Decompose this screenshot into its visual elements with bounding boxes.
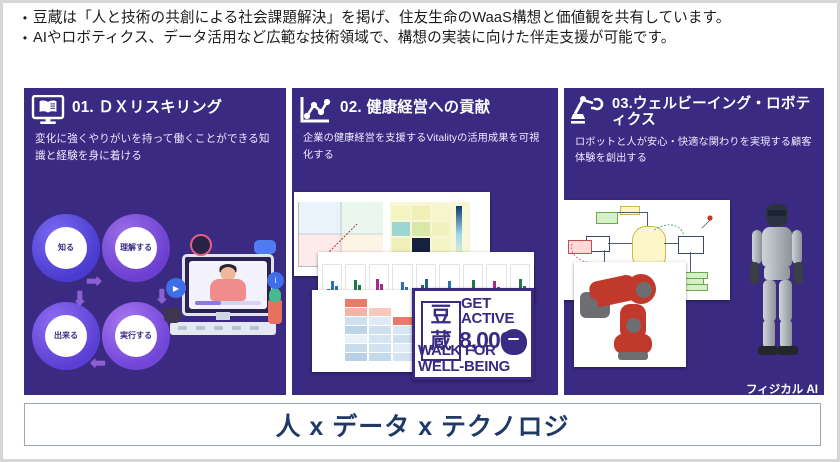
video-camera-icon: ▶ — [166, 278, 186, 298]
cycle-node-execute: 実行する — [115, 315, 157, 357]
health-dashboard-artwork: 豆蔵 GET ACTIVE 8,000 WALK FOR WELL-BEING — [292, 192, 558, 395]
plant-icon — [268, 300, 282, 324]
bullet-marker: • — [17, 9, 33, 27]
card-title: 03.ウェルビーイング・ロボティクス — [612, 95, 817, 129]
poster-line3: WALK FOR — [418, 342, 496, 359]
elearning-illustration: ▶ i — [164, 220, 282, 370]
info-badge-icon: i — [267, 272, 284, 289]
cycle-arrow-right-icon: ➡ — [86, 272, 102, 291]
bullet-text: 豆蔵は「人と技術の共創による社会課題解決」を掲げ、住友生命のWaaS構想と価値観… — [33, 9, 829, 28]
monitor-stand — [216, 312, 230, 320]
poster-line2: ACTIVE — [461, 310, 514, 327]
cycle-arrow-left-icon: ⬅ — [90, 354, 106, 373]
learning-cycle-diagram: 知る 理解する 出来る 実行する ➡ ⬇ ⬅ ⬇ — [32, 214, 170, 374]
bullet-item: • AIやロボティクス、データ活用など広範な技術領域で、構想の実装に向けた伴走支… — [17, 29, 829, 48]
bullet-list: • 豆蔵は「人と技術の共創による社会課題解決」を掲げ、住友生命のWaaS構想と価… — [17, 9, 829, 50]
keyboard-icon — [170, 322, 276, 335]
cycle-node-understand: 理解する — [115, 227, 157, 269]
robot-arm-photo — [574, 262, 686, 367]
card-header: 03.ウェルビーイング・ロボティクス ロボットと人が安心・快適な関わりを実現する… — [564, 88, 824, 168]
card-dx-reskilling: 01. ＤＸリスキリング 変化に強くやりがいを持って働くことができる知識と経験を… — [24, 88, 286, 395]
robot-arm-icon — [571, 95, 605, 125]
bean-mascot-icon — [501, 329, 527, 355]
bullet-marker: • — [17, 29, 33, 47]
monitor-icon — [182, 254, 274, 316]
card-title: 02. 健康経営への貢献 — [340, 95, 490, 116]
card-wellbeing-robotics: 03.ウェルビーイング・ロボティクス ロボットと人が安心・快適な関わりを実現する… — [564, 88, 824, 395]
footer-banner: 人 x データ x テクノロジ — [24, 403, 821, 446]
card-description: ロボットと人が安心・快適な関わりを実現する顧客体験を創出する — [571, 135, 817, 168]
chat-bubble-icon — [254, 240, 276, 254]
physical-ai-caption: フィジカル AI — [746, 381, 818, 395]
card-row: 01. ＤＸリスキリング 変化に強くやりがいを持って働くことができる知識と経験を… — [24, 88, 824, 395]
card-description: 企業の健康経営を支援するVitalityの活用成果を可視化する — [299, 131, 551, 164]
card-header: 01. ＤＸリスキリング 変化に強くやりがいを持って働くことができる知識と経験を… — [24, 88, 286, 165]
book-monitor-icon — [31, 95, 65, 125]
cycle-node-able: 出来る — [45, 315, 87, 357]
card-health-management: 02. 健康経営への貢献 企業の健康経営を支援するVitalityの活用成果を可… — [292, 88, 558, 395]
progress-donut-icon — [190, 234, 212, 256]
footer-text: 人 x データ x テクノロジ — [275, 407, 569, 443]
bullet-text: AIやロボティクス、データ活用など広範な技術領域で、構想の実装に向けた伴走支援が… — [33, 29, 829, 48]
robotics-artwork: フィジカル AI — [564, 200, 824, 395]
coffee-mug-icon — [164, 308, 181, 323]
card-title: 01. ＤＸリスキリング — [72, 95, 222, 116]
poster-line4: WELL-BEING — [418, 358, 510, 375]
slide-root: • 豆蔵は「人と技術の共創による社会課題解決」を掲げ、住友生命のWaaS構想と価… — [0, 0, 840, 462]
poster-line1: GET ACTIVE — [461, 297, 514, 326]
cycle-arrow-down-icon: ⬇ — [72, 290, 88, 309]
walk-campaign-poster: 豆蔵 GET ACTIVE 8,000 WALK FOR WELL-BEING — [412, 288, 534, 380]
bullet-item: • 豆蔵は「人と技術の共創による社会課題解決」を掲げ、住友生命のWaaS構想と価… — [17, 9, 829, 28]
card-description: 変化に強くやりがいを持って働くことができる知識と経験を身に着ける — [31, 131, 279, 165]
reskilling-artwork: 知る 理解する 出来る 実行する ➡ ⬇ ⬅ ⬇ — [24, 206, 286, 395]
cycle-node-know: 知る — [45, 227, 87, 269]
humanoid-robot-photo — [736, 204, 820, 364]
line-chart-icon — [299, 95, 333, 125]
card-header: 02. 健康経営への貢献 企業の健康経営を支援するVitalityの活用成果を可… — [292, 88, 558, 164]
